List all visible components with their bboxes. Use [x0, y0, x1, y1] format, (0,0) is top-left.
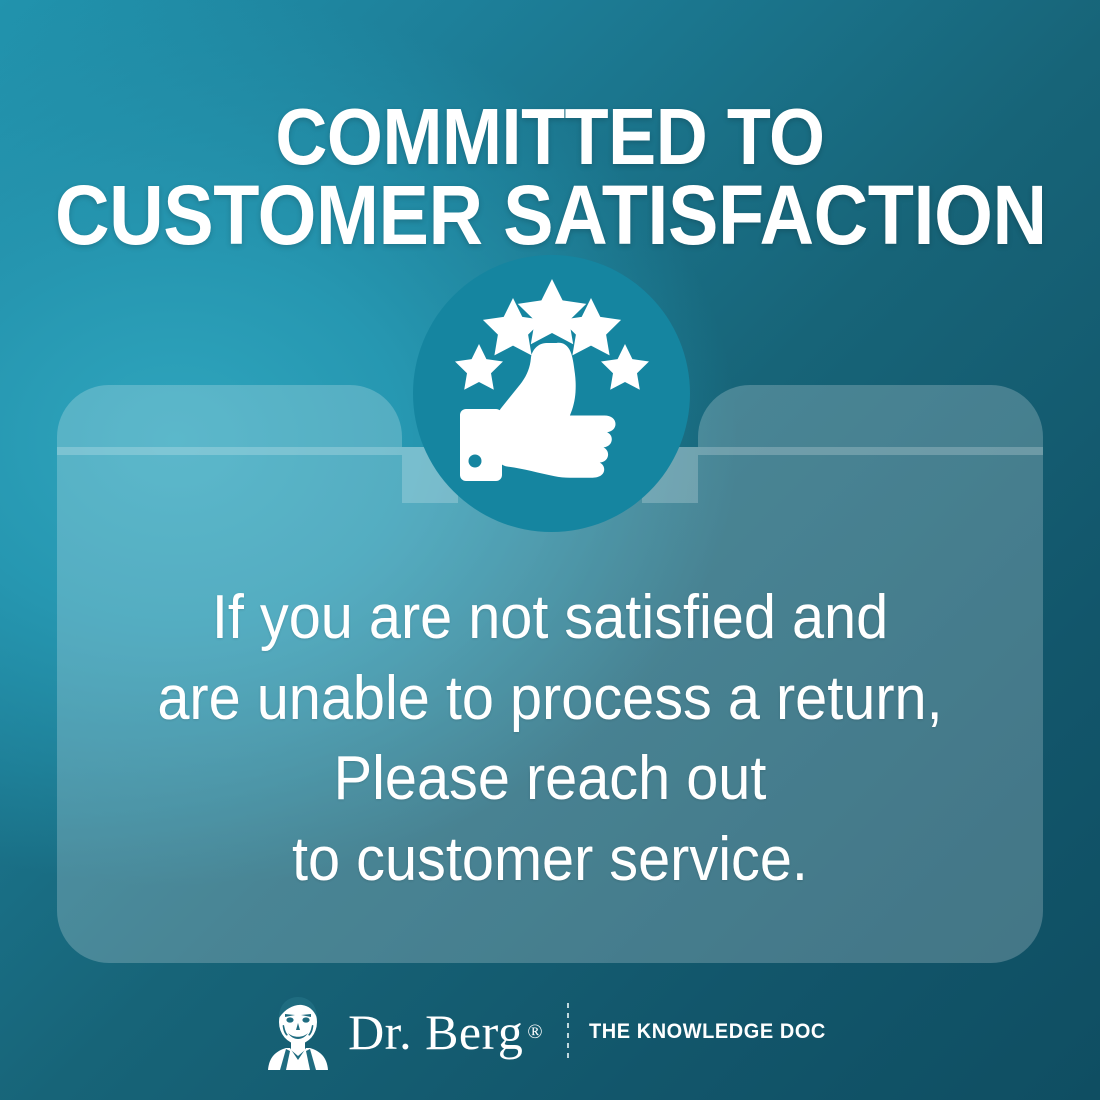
- page-title-line-2: CUSTOMER SATISFACTION: [55, 175, 1045, 256]
- brand-tagline: THE KNOWLEDGE DOC: [589, 1020, 826, 1044]
- body-line-4: to customer service.: [39, 820, 1062, 901]
- body-line-1: If you are not satisfied and: [39, 578, 1062, 659]
- footer-divider: [567, 1003, 569, 1061]
- card-shoulder-left: [57, 385, 402, 455]
- poster-canvas: COMMITTED TO CUSTOMER SATISFACTION: [0, 0, 1100, 1100]
- satisfaction-badge: [413, 255, 690, 532]
- body-message: If you are not satisfied and are unable …: [39, 578, 1062, 900]
- brand-footer: Dr. Berg ® THE KNOWLEDGE DOC: [0, 994, 1100, 1070]
- registered-trademark-icon: ®: [527, 1021, 542, 1044]
- body-line-3: Please reach out: [39, 739, 1062, 820]
- body-line-2: are unable to process a return,: [39, 659, 1062, 740]
- cuff-button-icon: [469, 455, 482, 468]
- card-shoulder-right: [698, 385, 1043, 455]
- brand-name: Dr. Berg: [348, 1007, 523, 1057]
- page-title: COMMITTED TO CUSTOMER SATISFACTION: [55, 98, 1045, 257]
- page-title-line-1: COMMITTED TO: [55, 98, 1045, 176]
- dr-berg-portrait-icon: [262, 994, 334, 1070]
- thumbs-up-five-stars-icon: [413, 255, 690, 532]
